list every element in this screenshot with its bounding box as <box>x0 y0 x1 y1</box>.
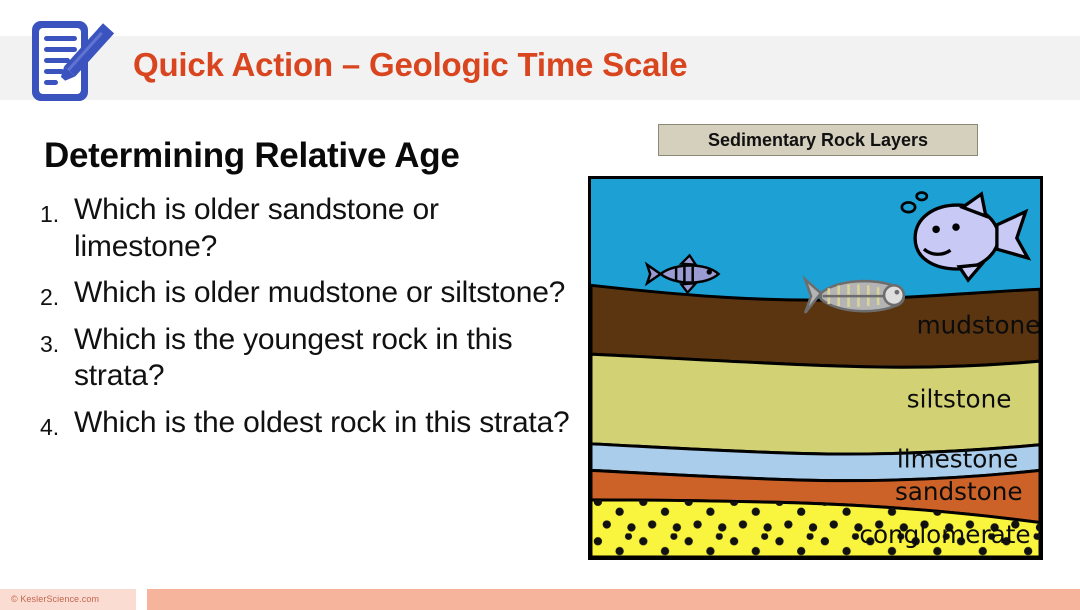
list-item: 4. Which is the oldest rock in this stra… <box>28 405 573 442</box>
limestone-label: limestone <box>897 444 1018 473</box>
question-number: 4. <box>28 405 74 441</box>
question-text: Which is the youngest rock in this strat… <box>74 322 573 395</box>
question-text: Which is older sandstone or limestone? <box>74 192 573 265</box>
sedimentary-rock-layers-diagram: mudstone siltstone limestone sandstone c… <box>588 176 1043 560</box>
conglomerate-label: conglomerate <box>859 520 1030 549</box>
question-text: Which is older mudstone or siltstone? <box>74 275 573 312</box>
diagram-caption: Sedimentary Rock Layers <box>658 124 978 156</box>
question-list: 1. Which is older sandstone or limestone… <box>28 192 573 452</box>
list-item: 3. Which is the youngest rock in this st… <box>28 322 573 395</box>
content-heading: Determining Relative Age <box>44 136 460 176</box>
question-text: Which is the oldest rock in this strata? <box>74 405 573 442</box>
mudstone-label: mudstone <box>917 311 1040 340</box>
question-number: 3. <box>28 322 74 358</box>
footer-credit: © KeslerScience.com <box>11 594 99 604</box>
question-number: 1. <box>28 192 74 228</box>
footer-right-bar <box>147 589 1080 610</box>
page-title: Quick Action – Geologic Time Scale <box>133 46 687 84</box>
notepad-pencil-icon <box>16 14 120 110</box>
question-number: 2. <box>28 275 74 311</box>
list-item: 2. Which is older mudstone or siltstone? <box>28 275 573 312</box>
list-item: 1. Which is older sandstone or limestone… <box>28 192 573 265</box>
siltstone-label: siltstone <box>907 384 1012 413</box>
sandstone-label: sandstone <box>895 477 1023 506</box>
